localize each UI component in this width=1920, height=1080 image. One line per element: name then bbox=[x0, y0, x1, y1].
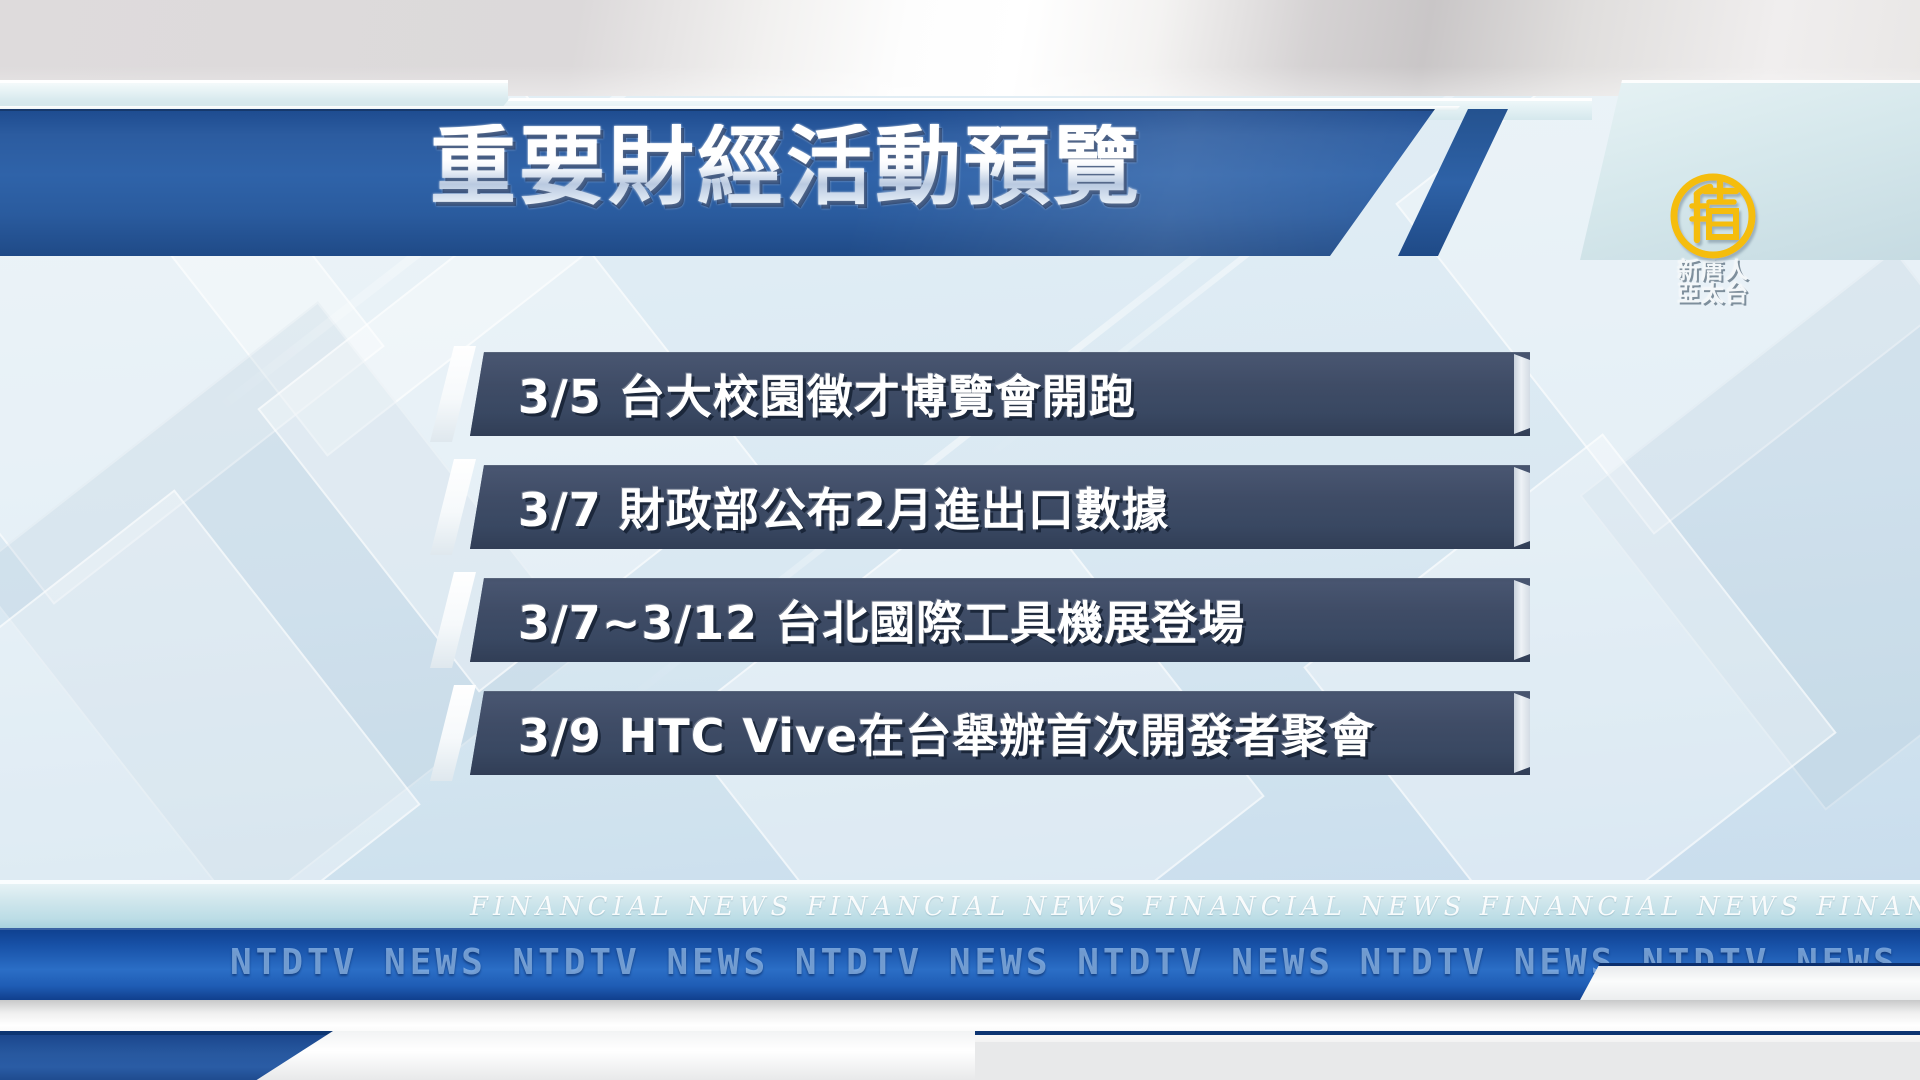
list-item-text: 3/7 財政部公布2月進出口數據 bbox=[518, 474, 1169, 540]
row-slash-marker bbox=[430, 346, 476, 442]
list-item-text: 3/5 台大校園徵才博覽會開跑 bbox=[518, 361, 1136, 427]
row-slash-marker bbox=[430, 459, 476, 555]
row-slash-marker bbox=[430, 572, 476, 668]
row-end-cap bbox=[1514, 693, 1530, 773]
list-item: 3/7~3/12 台北國際工具機展登場 bbox=[440, 578, 1530, 662]
list-item: 3/7 財政部公布2月進出口數據 bbox=[440, 465, 1530, 549]
financial-news-ticker-text: FINANCIAL NEWS FINANCIAL NEWS FINANCIAL … bbox=[470, 892, 1920, 922]
financial-news-ticker: FINANCIAL NEWS FINANCIAL NEWS FINANCIAL … bbox=[0, 880, 1920, 928]
row-end-cap bbox=[1514, 580, 1530, 660]
lower-third-bands: FINANCIAL NEWS FINANCIAL NEWS FINANCIAL … bbox=[0, 880, 1920, 1080]
row-slash-marker bbox=[430, 685, 476, 781]
row-end-cap bbox=[1514, 354, 1530, 434]
broadcast-graphic-stage: 重要財經活動預覽 bbox=[0, 0, 1920, 1080]
ticker-diagonal-cut bbox=[1580, 928, 1920, 1000]
list-item: 3/5 台大校園徵才博覽會開跑 bbox=[440, 352, 1530, 436]
list-item: 3/9 HTC Vive在台舉辦首次開發者聚會 bbox=[440, 691, 1530, 775]
list-item-text: 3/9 HTC Vive在台舉辦首次開發者聚會 bbox=[518, 700, 1375, 766]
list-item-text: 3/7~3/12 台北國際工具機展登場 bbox=[518, 587, 1245, 653]
footer-white-wedge bbox=[255, 1031, 975, 1080]
row-end-cap bbox=[1514, 467, 1530, 547]
